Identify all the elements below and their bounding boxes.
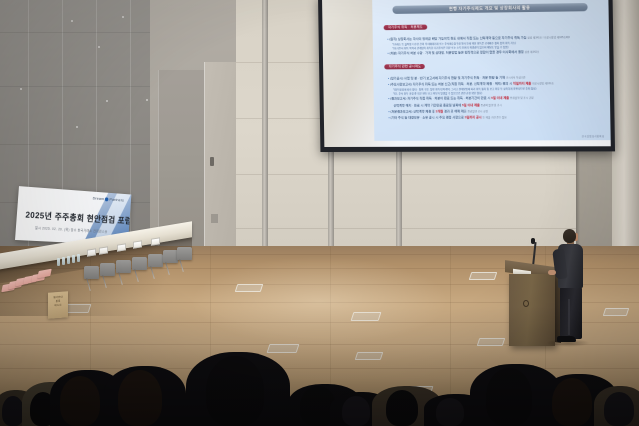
- speaker-leg-split: [568, 299, 570, 335]
- chair[interactable]: [163, 250, 178, 263]
- slide-section-heading-2: 자기주식 관련 공시제도: [385, 64, 426, 69]
- water-bottle: [72, 255, 75, 263]
- banner-logo: DreamPartners: [93, 195, 125, 202]
- projection-screen: 현행 자기주식제도 개요 및 상장회사의 활용 자기주식 취득 · 처분제도 ▪…: [318, 0, 615, 152]
- chair[interactable]: [177, 247, 192, 260]
- speaker-head: [563, 229, 576, 243]
- speaker-shoe: [557, 336, 576, 342]
- door-plate: [211, 214, 218, 223]
- name-card: [99, 246, 108, 254]
- floor-outlet-cover: [355, 352, 384, 360]
- speaker-hand: [548, 270, 556, 275]
- door-handle-icon: [210, 157, 214, 166]
- chair[interactable]: [100, 263, 115, 276]
- podium-logo-icon: [523, 300, 529, 307]
- water-bottle: [77, 254, 80, 262]
- slide-footer-mark: 한국상장회사협의회: [582, 134, 605, 138]
- chair[interactable]: [148, 254, 163, 267]
- water-bottle: [62, 257, 65, 265]
- slide-title: 현행 자기주식제도 개요 및 상장회사의 활용: [393, 3, 588, 14]
- chair[interactable]: [116, 260, 131, 273]
- floor-outlet-cover: [603, 308, 630, 316]
- podium-front-panel: [509, 274, 555, 346]
- projection-screen-surface: 현행 자기주식제도 개요 및 상장회사의 활용 자기주식 취득 · 처분제도 ▪…: [322, 0, 611, 147]
- name-card: [117, 243, 126, 251]
- speaker-legs: [560, 286, 582, 339]
- water-bottle: [57, 258, 60, 266]
- slide-bullet: 신탁계약 해지 · 만료 시 계약 기간만료 종료일 날짜에 5일 이내 제출 …: [393, 102, 600, 109]
- presentation-slide: 현행 자기주식제도 개요 및 상장회사의 활용 자기주식 취득 · 처분제도 ▪…: [373, 0, 611, 141]
- sign-text: 행사안내 등록 데스크: [50, 295, 66, 308]
- slide-bullet: ▪ (기타 주식 등 대량보유 · 소유 공시 시 주요 결정 사항으로 5일까…: [388, 115, 600, 121]
- floor-outlet-cover: [469, 272, 498, 280]
- chair[interactable]: [132, 257, 147, 270]
- floor-outlet-cover: [403, 386, 434, 395]
- registration-desk-sign: 행사안내 등록 데스크: [48, 291, 68, 318]
- name-card: [87, 248, 96, 256]
- chair[interactable]: [84, 266, 99, 279]
- name-card: [151, 237, 160, 245]
- conference-hall-photo: 현행 자기주식제도 개요 및 상장회사의 활용 자기주식 취득 · 처분제도 ▪…: [0, 0, 639, 426]
- water-bottle: [67, 256, 70, 264]
- slide-bullet: ▪ (결과보고서) 자기주식 직접 취득 · 처분이 완료 또는 취득 · 처분…: [388, 95, 600, 102]
- speaker-person: [552, 229, 590, 346]
- slide-bullet: ▪ (처분결과보고서) 신탁계약 체결 후 3개월 경과 후 해제 제출 증권발…: [388, 108, 600, 114]
- name-card: [133, 240, 142, 248]
- floor-outlet-cover: [477, 338, 506, 346]
- slide-bullet: ▪ (처분) 자기주식 처분 수량 · 가격 및 상대방, 처분방법 등은 원칙…: [387, 49, 599, 57]
- slide-section-heading-1: 자기주식 취득 · 처분제도: [384, 25, 427, 31]
